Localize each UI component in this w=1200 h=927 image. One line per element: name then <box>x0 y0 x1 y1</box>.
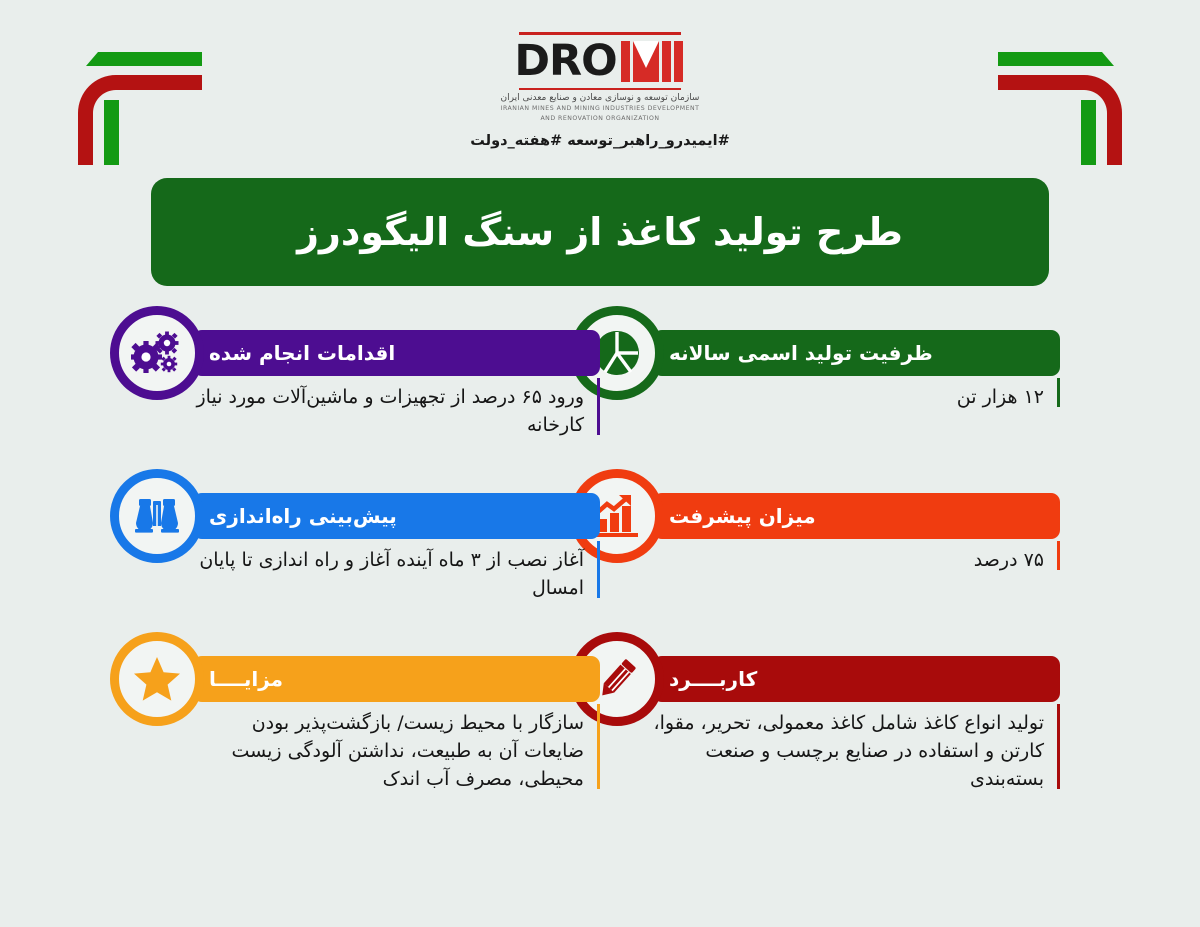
card-title-bar: کاربــــرد <box>653 656 1060 702</box>
header-logo-block: DRO سازمان توسعه و نوسازی معادن و صنایع … <box>0 32 1200 149</box>
card-header: میزان پیشرفت <box>600 493 1060 539</box>
card-body: آغاز نصب از ۳ ماه آینده آغاز و راه انداز… <box>193 539 600 602</box>
logo-m-glyph <box>633 41 659 82</box>
card-title: کاربــــرد <box>653 667 757 691</box>
logo-bottom-rule <box>519 88 681 90</box>
midro-logo: DRO <box>514 39 685 83</box>
card-body: سازگار با محیط زیست/ بازگشت‌پذیر بودن ضا… <box>193 702 600 793</box>
card-launch-forecast[interactable]: پیش‌بینی راه‌اندازی <box>140 493 600 602</box>
card-title-bar: ظرفیت تولید اسمی سالانه <box>653 330 1060 376</box>
card-header: اقدامات انجام شده <box>140 330 600 376</box>
logo-top-rule <box>519 32 681 35</box>
card-nominal-capacity[interactable]: ظرفیت تولید اسمی سالانه <box>600 330 1060 411</box>
card-title-bar: میزان پیشرفت <box>653 493 1060 539</box>
card-accent-line <box>597 541 600 598</box>
logo-bar-3 <box>621 41 630 82</box>
card-header: پیش‌بینی راه‌اندازی <box>140 493 600 539</box>
card-body: ۷۵ درصد <box>653 539 1060 574</box>
card-body: ورود ۶۵ درصد از تجهیزات و ماشین‌آلات مور… <box>193 376 600 439</box>
card-body-text: ورود ۶۵ درصد از تجهیزات و ماشین‌آلات مور… <box>193 383 594 439</box>
card-title-bar: اقدامات انجام شده <box>193 330 600 376</box>
card-row-3: کاربــــرد <box>0 656 1200 819</box>
logo-wordmark: DRO <box>514 41 616 82</box>
card-header: کاربــــرد <box>600 656 1060 702</box>
card-title: مزایــــا <box>193 667 283 691</box>
card-accent-line <box>597 704 600 789</box>
card-body-text: تولید انواع کاغذ شامل کاغذ معمولی، تحریر… <box>653 709 1054 793</box>
card-title-bar: مزایــــا <box>193 656 600 702</box>
card-title: اقدامات انجام شده <box>193 341 395 365</box>
logo-bar-2 <box>662 41 671 82</box>
card-accent-line <box>1057 704 1060 789</box>
card-title-bar: پیش‌بینی راه‌اندازی <box>193 493 600 539</box>
logo-bar-1 <box>674 41 683 82</box>
card-accent-line <box>1057 541 1060 570</box>
page-title-banner: طرح تولید کاغذ از سنگ الیگودرز <box>151 178 1049 286</box>
card-body: ۱۲ هزار تن <box>653 376 1060 411</box>
card-body-text: ۷۵ درصد <box>653 546 1054 574</box>
card-progress-rate[interactable]: میزان پیشرفت <box>600 493 1060 574</box>
card-application[interactable]: کاربــــرد <box>600 656 1060 793</box>
org-name-en-line1: IRANIAN MINES AND MINING INDUSTRIES DEVE… <box>501 105 700 113</box>
card-accent-line <box>597 378 600 435</box>
card-body-text: سازگار با محیط زیست/ بازگشت‌پذیر بودن ضا… <box>193 709 594 793</box>
card-body: تولید انواع کاغذ شامل کاغذ معمولی، تحریر… <box>653 702 1060 793</box>
binoculars-icon <box>110 469 204 563</box>
star-icon <box>110 632 204 726</box>
infographic-canvas: DRO سازمان توسعه و نوسازی معادن و صنایع … <box>0 0 1200 927</box>
card-accent-line <box>1057 378 1060 407</box>
gears-icon <box>110 306 204 400</box>
card-row-2: میزان پیشرفت <box>0 493 1200 656</box>
card-title: میزان پیشرفت <box>653 504 816 528</box>
cards-grid: ظرفیت تولید اسمی سالانه <box>0 330 1200 819</box>
card-actions-taken[interactable]: اقدامات انجام شده <box>140 330 600 439</box>
card-body-text: آغاز نصب از ۳ ماه آینده آغاز و راه انداز… <box>193 546 594 602</box>
campaign-hashtags: #ایمیدرو_راهبر_توسعه #هفته_دولت <box>470 133 729 149</box>
org-name-en-line2: AND RENOVATION ORGANIZATION <box>540 115 659 123</box>
card-header: ظرفیت تولید اسمی سالانه <box>600 330 1060 376</box>
card-row-1: ظرفیت تولید اسمی سالانه <box>0 330 1200 493</box>
card-advantages[interactable]: مزایــــا سازگار با محیط زیست/ بازگشت‌پذ… <box>140 656 600 793</box>
card-title: پیش‌بینی راه‌اندازی <box>193 504 397 528</box>
card-header: مزایــــا <box>140 656 600 702</box>
card-body-text: ۱۲ هزار تن <box>653 383 1054 411</box>
card-title: ظرفیت تولید اسمی سالانه <box>653 341 933 365</box>
page-title: طرح تولید کاغذ از سنگ الیگودرز <box>297 210 903 254</box>
org-name-fa: سازمان توسعه و نوسازی معادن و صنایع معدن… <box>501 93 700 103</box>
